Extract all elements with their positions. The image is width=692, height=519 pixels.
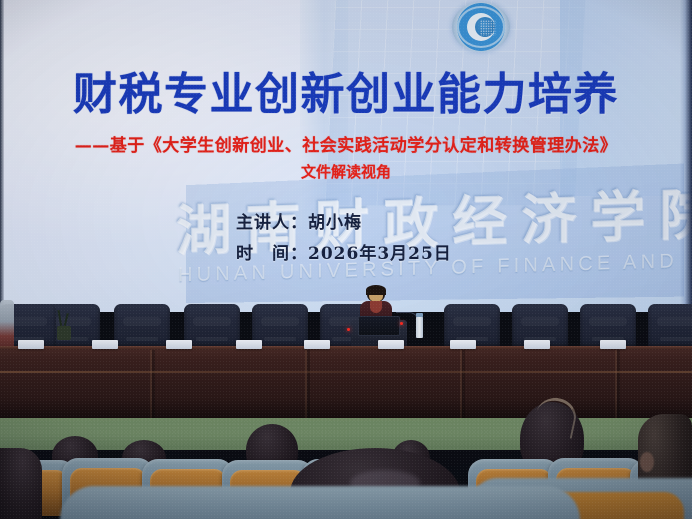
slide-title: 财税专业创新创业能力培养 bbox=[0, 58, 692, 122]
audience-person-left bbox=[0, 448, 42, 519]
name-card bbox=[524, 340, 550, 349]
university-seal-emblem bbox=[452, 2, 510, 52]
name-card bbox=[304, 340, 330, 349]
screen-right-edge bbox=[680, 0, 692, 312]
name-card bbox=[166, 340, 192, 349]
stage-plant bbox=[57, 326, 71, 340]
slide-subtitle-line-1: ——基于《大学生创新创业、社会实践活动学分认定和转换管理办法》 bbox=[0, 131, 692, 156]
slide-date-line: 时 间：2026年3月25日 bbox=[236, 239, 452, 264]
stage-chair bbox=[648, 304, 692, 348]
laptop bbox=[358, 316, 400, 336]
speaker-hair bbox=[366, 285, 386, 295]
slide-subtitle-line-2: 文件解读视角 bbox=[0, 161, 692, 182]
name-card bbox=[92, 340, 118, 349]
water-bottle-cap bbox=[416, 313, 423, 317]
stage-chair bbox=[114, 304, 170, 348]
stage-chair bbox=[184, 304, 240, 348]
emblem-dot-pattern bbox=[480, 20, 496, 36]
screen-left-edge bbox=[0, 0, 4, 312]
slide-speaker-line: 主讲人：胡小梅 bbox=[236, 208, 362, 233]
ear bbox=[640, 452, 654, 472]
indicator-light bbox=[400, 322, 403, 325]
stage-panel-moulding bbox=[0, 371, 692, 373]
auditorium-seat-foreground bbox=[60, 486, 580, 519]
name-card bbox=[378, 340, 404, 349]
name-card bbox=[18, 340, 44, 349]
standing-figure-left bbox=[0, 300, 14, 348]
lecture-hall-photo: 湖南财政经济学院 HUNAN UNIVERSITY OF FINANCE AND… bbox=[0, 0, 692, 519]
name-card bbox=[236, 340, 262, 349]
name-card bbox=[600, 340, 626, 349]
water-bottle bbox=[416, 316, 423, 338]
speaker-collar bbox=[370, 301, 382, 313]
indicator-light bbox=[347, 328, 350, 331]
building-sign-panel bbox=[186, 164, 684, 303]
name-card bbox=[450, 340, 476, 349]
projection-screen: 湖南财政经济学院 HUNAN UNIVERSITY OF FINANCE AND… bbox=[0, 0, 692, 312]
